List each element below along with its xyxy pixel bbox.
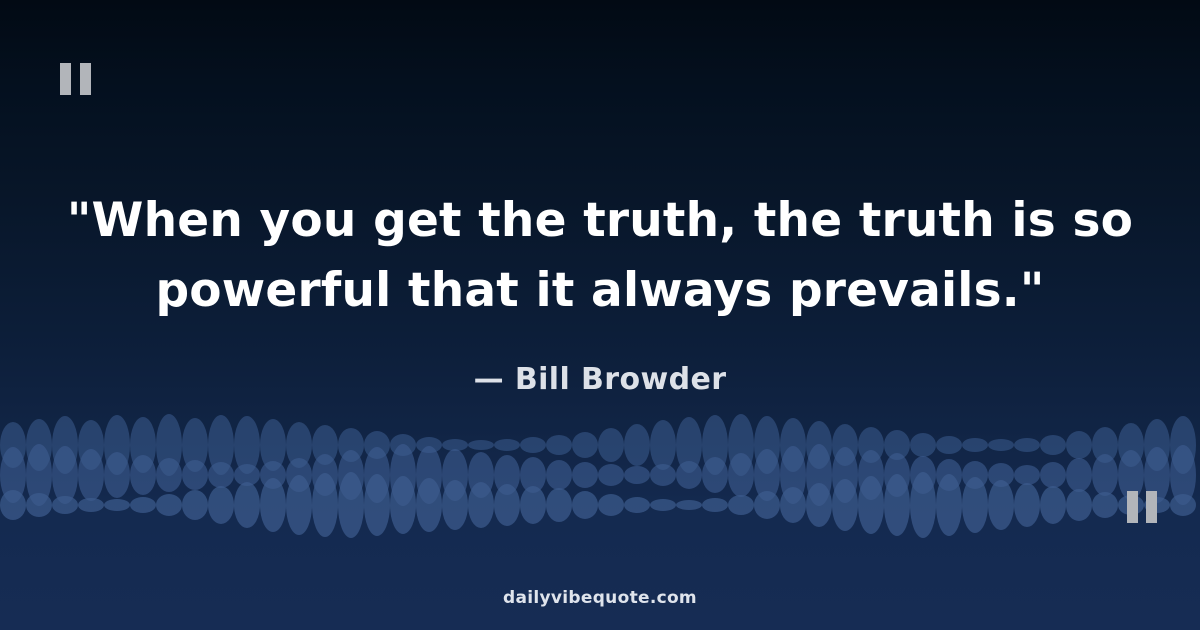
card-content: "When you get the truth, the truth is so… xyxy=(0,0,1200,630)
quote-text: "When you get the truth, the truth is so… xyxy=(60,186,1140,326)
quote-attribution: — Bill Browder xyxy=(60,362,1140,397)
quote-card: "When you get the truth, the truth is so… xyxy=(0,0,1200,630)
site-url: dailyvibequote.com xyxy=(0,588,1200,608)
